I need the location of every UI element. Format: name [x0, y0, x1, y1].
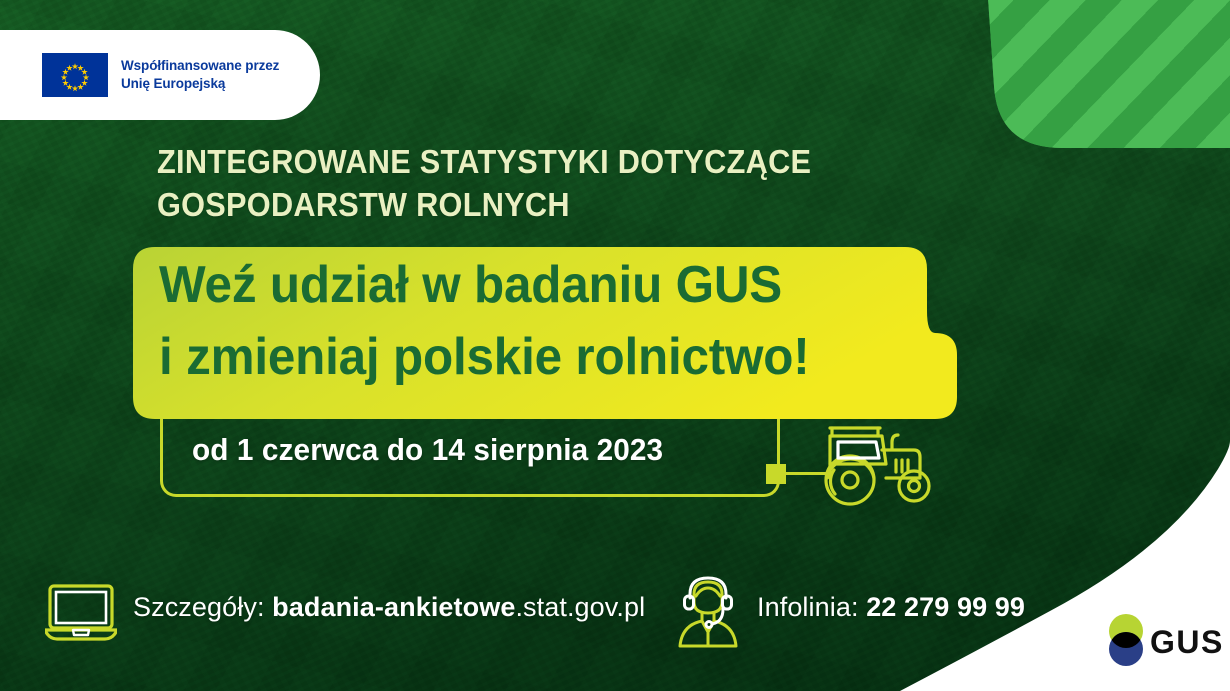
details-text: Szczegóły: badania-ankietowe.stat.gov.pl — [133, 592, 645, 623]
headline-line2: i zmieniaj polskie rolnictwo! — [159, 322, 810, 394]
gus-logo-icon: GUS — [1104, 612, 1224, 668]
headline-text: Weź udział w badaniu GUS i zmieniaj pols… — [159, 250, 810, 394]
diagonal-stripes-decoration — [982, 0, 1230, 148]
details-url-bold: badania-ankietowe — [272, 592, 515, 622]
page-title: ZINTEGROWANE STATYSTYKI DOTYCZĄCE GOSPOD… — [157, 141, 827, 227]
page-title-line1: ZINTEGROWANE STATYSTYKI DOTYCZĄCE — [157, 141, 827, 184]
survey-period-text: od 1 czerwca do 14 sierpnia 2023 — [192, 432, 663, 468]
eu-badge-line2: Unię Europejską — [121, 75, 279, 93]
eu-badge-line1: Współfinansowane przez — [121, 57, 279, 75]
laptop-icon — [45, 583, 117, 641]
tractor-icon — [808, 416, 940, 508]
page-title-line2: GOSPODARSTW ROLNYCH — [157, 184, 827, 227]
headset-operator-icon — [672, 572, 744, 648]
banner-root: Współfinansowane przez Unię Europejską Z… — [0, 0, 1230, 691]
headline-line1: Weź udział w badaniu GUS — [159, 250, 810, 322]
gus-logo-text: GUS — [1150, 624, 1224, 660]
hotline-label: Infolinia: — [757, 592, 859, 622]
connector-node — [766, 464, 786, 484]
headline-callout-box: Weź udział w badaniu GUS i zmieniaj pols… — [133, 247, 957, 419]
eu-cofunding-badge: Współfinansowane przez Unię Europejską — [0, 30, 320, 120]
hotline-text: Infolinia: 22 279 99 99 — [757, 592, 1025, 623]
diagonal-stripes-pattern — [982, 0, 1230, 148]
survey-period-bar: od 1 czerwca do 14 sierpnia 2023 — [160, 419, 780, 497]
hotline-number: 22 279 99 99 — [866, 592, 1025, 622]
eu-badge-text: Współfinansowane przez Unię Europejską — [121, 57, 279, 93]
details-url-rest: .stat.gov.pl — [515, 592, 645, 622]
eu-flag-icon — [42, 53, 108, 97]
details-label: Szczegóły: — [133, 592, 265, 622]
